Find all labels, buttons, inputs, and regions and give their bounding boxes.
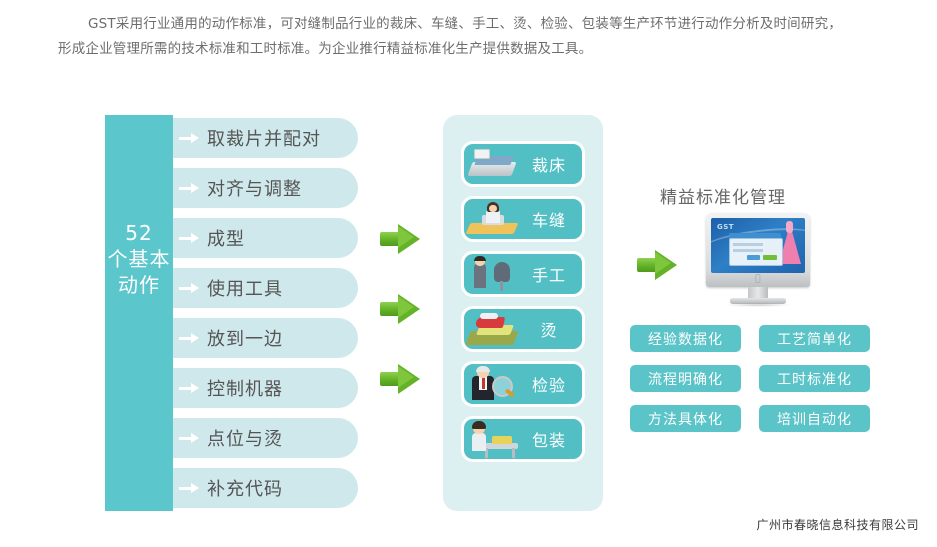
arrow-right-icon xyxy=(179,231,201,245)
arrow-right-icon xyxy=(179,381,201,395)
basic-actions-text: 个基本动作 xyxy=(105,246,173,298)
process-item-sewing[interactable]: 车缝 xyxy=(461,196,585,242)
action-item-0[interactable]: 取裁片并配对 xyxy=(173,118,358,158)
process-panel: 裁床 车缝 手工 烫 xyxy=(443,115,603,511)
benefit-tag-0-1[interactable]: 工艺简单化 xyxy=(759,325,870,352)
process-item-handwork[interactable]: 手工 xyxy=(461,251,585,297)
benefit-tag-grid: 经验数据化 工艺简单化 流程明确化 工时标准化 方法具体化 培训自动化 xyxy=(630,325,890,445)
action-label: 成型 xyxy=(207,225,245,251)
arrow-right-icon xyxy=(179,431,201,445)
process-item-packing[interactable]: 包装 xyxy=(461,416,585,462)
sewing-machine-icon xyxy=(466,199,520,239)
action-item-7[interactable]: 补充代码 xyxy=(173,468,358,508)
lean-management-title: 精益标准化管理 xyxy=(660,183,786,208)
packing-icon xyxy=(466,419,520,459)
benefit-tag-row: 方法具体化 培训自动化 xyxy=(630,405,890,432)
benefit-tag-2-1[interactable]: 培训自动化 xyxy=(759,405,870,432)
action-label: 补充代码 xyxy=(207,475,283,501)
benefit-tag-2-0[interactable]: 方法具体化 xyxy=(630,405,741,432)
benefit-tag-row: 流程明确化 工时标准化 xyxy=(630,365,890,392)
benefit-tag-1-1[interactable]: 工时标准化 xyxy=(759,365,870,392)
intro-line-2: 形成企业管理所需的技术标准和工时标准。为企业推行精益标准化生产提供数据及工具。 xyxy=(58,37,888,62)
action-item-3[interactable]: 使用工具 xyxy=(173,268,358,308)
ironing-icon xyxy=(466,309,520,349)
footer-company-name: 广州市春晓信息科技有限公司 xyxy=(756,516,919,533)
arrow-head-highlight xyxy=(398,296,414,318)
green-right-arrow-icon xyxy=(380,364,420,394)
green-right-arrow-icon xyxy=(380,224,420,254)
screen-app-logo: GST xyxy=(717,223,734,231)
intro-line-1: GST采用行业通用的动作标准，可对缝制品行业的裁床、车缝、手工、烫、检验、包装等… xyxy=(58,12,888,37)
cutting-table-icon xyxy=(466,144,520,184)
process-item-ironing[interactable]: 烫 xyxy=(461,306,585,352)
monitor-shadow xyxy=(724,303,792,307)
process-label: 检验 xyxy=(520,372,582,396)
action-label: 控制机器 xyxy=(207,375,283,401)
screen-login-row xyxy=(733,249,763,252)
process-item-cutting[interactable]: 裁床 xyxy=(461,141,585,187)
process-label: 包装 xyxy=(520,427,582,451)
inspection-magnifier-icon xyxy=(466,364,520,404)
arrow-head-highlight xyxy=(398,366,414,388)
apple-logo-icon:  xyxy=(754,275,762,284)
action-label: 放到一边 xyxy=(207,325,283,351)
process-label: 裁床 xyxy=(520,152,582,176)
arrow-right-icon xyxy=(179,131,201,145)
screen-login-row xyxy=(733,243,763,246)
action-item-6[interactable]: 点位与烫 xyxy=(173,418,358,458)
green-right-arrow-icon xyxy=(637,250,677,280)
screen-dress-top xyxy=(786,221,793,233)
arrow-right-icon xyxy=(179,331,201,345)
green-right-arrow-icon xyxy=(380,294,420,324)
basic-actions-bar: 52 个基本动作 xyxy=(105,115,173,511)
action-item-2[interactable]: 成型 xyxy=(173,218,358,258)
handwork-mannequin-icon xyxy=(466,254,520,294)
arrow-head-highlight xyxy=(398,226,414,248)
action-label: 对齐与调整 xyxy=(207,175,302,201)
screen-login-button xyxy=(763,255,777,260)
action-list: 取裁片并配对 对齐与调整 成型 使用工具 放到一边 控制机器 点位与烫 补充代码 xyxy=(173,118,358,518)
action-label: 点位与烫 xyxy=(207,425,283,451)
imac-monitor-icon: GST  xyxy=(706,213,810,309)
action-item-4[interactable]: 放到一边 xyxy=(173,318,358,358)
process-item-inspection[interactable]: 检验 xyxy=(461,361,585,407)
benefit-tag-row: 经验数据化 工艺简单化 xyxy=(630,325,890,352)
arrow-right-icon xyxy=(179,281,201,295)
action-item-5[interactable]: 控制机器 xyxy=(173,368,358,408)
arrow-right-icon xyxy=(179,181,201,195)
screen-login-button xyxy=(747,255,760,260)
intro-paragraph: GST采用行业通用的动作标准，可对缝制品行业的裁床、车缝、手工、烫、检验、包装等… xyxy=(58,12,888,62)
action-label: 使用工具 xyxy=(207,275,283,301)
action-item-1[interactable]: 对齐与调整 xyxy=(173,168,358,208)
benefit-tag-1-0[interactable]: 流程明确化 xyxy=(630,365,741,392)
basic-actions-bar-label: 52 个基本动作 xyxy=(105,220,173,298)
benefit-tag-0-0[interactable]: 经验数据化 xyxy=(630,325,741,352)
monitor-screen: GST xyxy=(711,218,805,273)
arrow-right-icon xyxy=(179,481,201,495)
process-label: 手工 xyxy=(520,262,582,286)
arrow-head-highlight xyxy=(655,252,671,274)
process-label: 烫 xyxy=(520,317,582,341)
process-list: 裁床 车缝 手工 烫 xyxy=(461,141,585,471)
action-label: 取裁片并配对 xyxy=(207,125,321,151)
basic-actions-count: 52 xyxy=(105,220,173,246)
process-label: 车缝 xyxy=(520,207,582,231)
